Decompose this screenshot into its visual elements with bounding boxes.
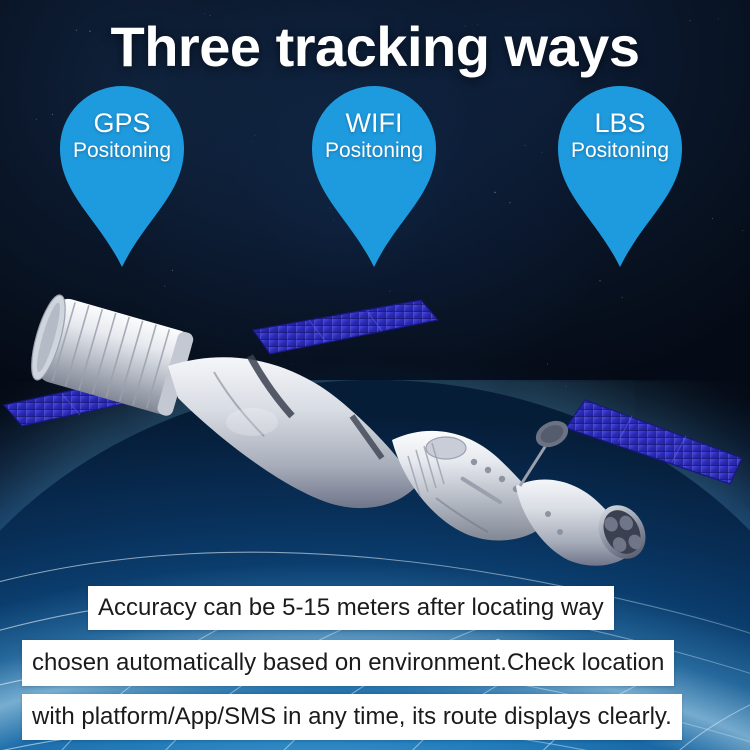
solar-panel-array-upper-right (253, 300, 438, 354)
description-line-3: with platform/App/SMS in any time, its r… (22, 694, 682, 740)
poster-canvas: Three tracking ways GPS Positoning WIFI … (0, 0, 750, 750)
tapered-core-module (168, 356, 418, 508)
pin-subtitle: Positoning (325, 139, 423, 163)
pin-labels: WIFI Positoning (325, 108, 423, 163)
description-line-1: Accuracy can be 5-15 meters after locati… (88, 586, 614, 630)
tracking-pin-gps[interactable]: GPS Positoning (58, 78, 186, 268)
map-pin-icon (310, 78, 438, 268)
solar-panel-array-lower-right (566, 400, 742, 484)
dish-antenna (520, 416, 573, 486)
tracking-pin-wifi[interactable]: WIFI Positoning (310, 78, 438, 268)
tracking-pin-lbs[interactable]: LBS Positoning (556, 78, 684, 268)
pin-title: GPS (73, 108, 171, 138)
pin-labels: GPS Positoning (73, 108, 171, 163)
description-line-2: chosen automatically based on environmen… (22, 640, 674, 686)
space-station-satellite-icon (0, 270, 750, 590)
map-pin-icon (58, 78, 186, 268)
pin-title: WIFI (325, 108, 423, 138)
pin-subtitle: Positoning (73, 139, 171, 163)
pin-labels: LBS Positoning (571, 108, 669, 163)
tracking-pins-group: GPS Positoning WIFI Positoning LBS Posit… (0, 78, 750, 278)
thruster-module (516, 480, 655, 568)
pin-title: LBS (571, 108, 669, 138)
pin-subtitle: Positoning (571, 139, 669, 163)
map-pin-icon (556, 78, 684, 268)
page-title: Three tracking ways (0, 14, 750, 79)
